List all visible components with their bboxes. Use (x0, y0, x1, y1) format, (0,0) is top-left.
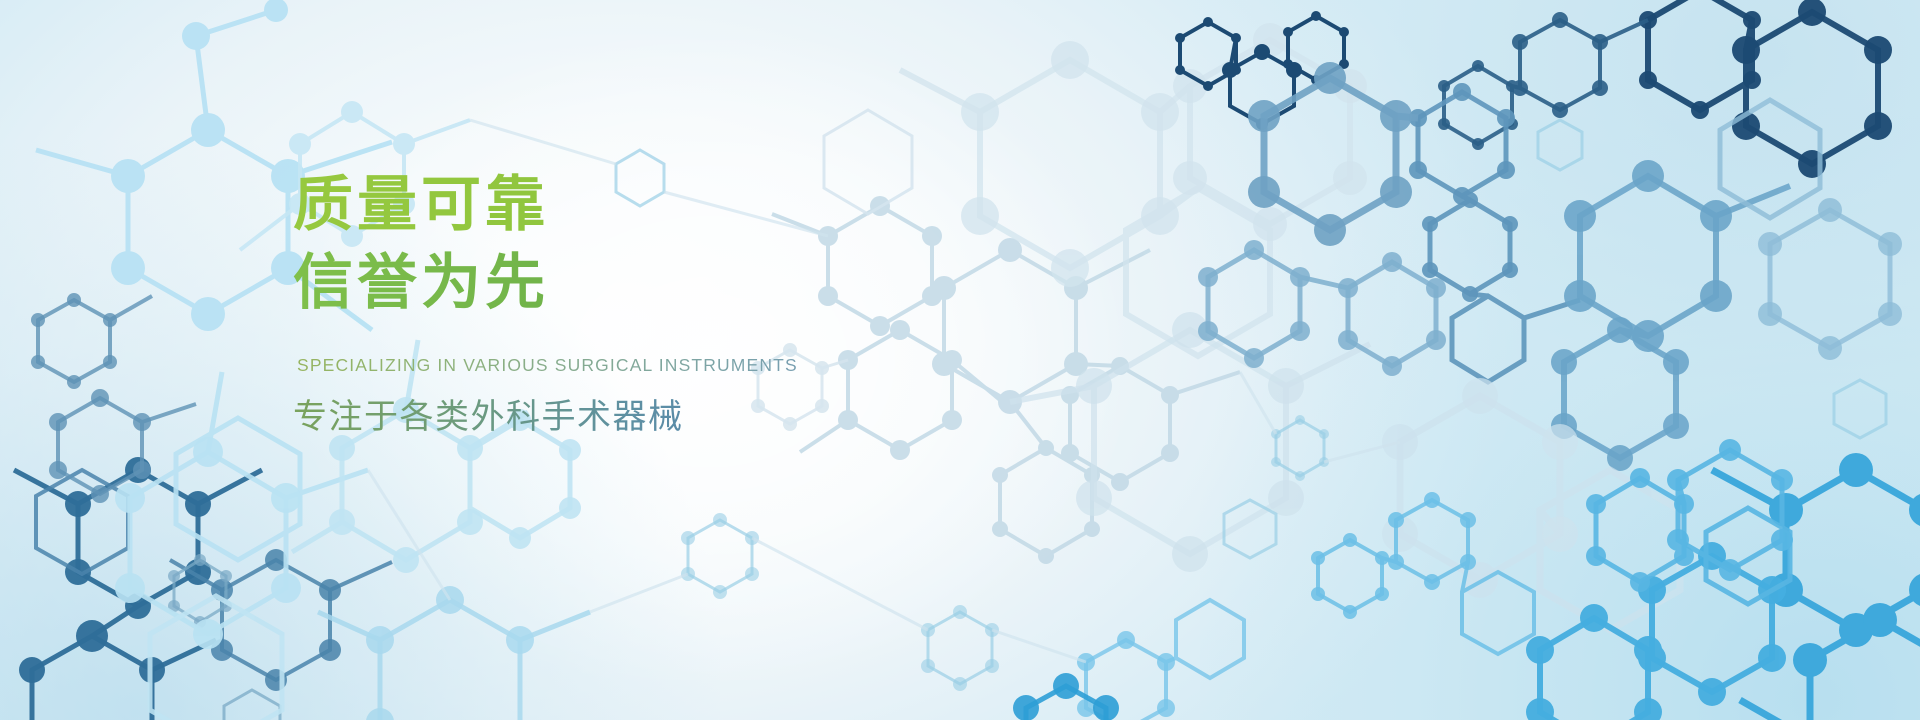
chinese-subtitle: 专注于各类外科手术器械 (293, 389, 1053, 438)
molecule-group-bottom-right-bright (1013, 439, 1920, 720)
hero-text-block: 质量可靠 信誉为先 SPECIALIZING IN VARIOUS SURGIC… (293, 168, 1053, 438)
english-tagline: SPECIALIZING IN VARIOUS SURGICAL INSTRUM… (297, 355, 1053, 376)
molecule-group-left-top-faint (1010, 330, 1370, 554)
hero-banner: 质量可靠 信誉为先 SPECIALIZING IN VARIOUS SURGIC… (0, 0, 1920, 720)
molecule-group-right-steel (1198, 62, 1902, 471)
headline-line-1: 质量可靠 (293, 168, 1053, 242)
molecule-group-top-right-navy (1175, 0, 1892, 178)
headline-line-2: 信誉为先 (293, 246, 1053, 320)
molecule-group-right-faint (1400, 396, 1680, 630)
molecule-group-left-lower (318, 600, 590, 720)
